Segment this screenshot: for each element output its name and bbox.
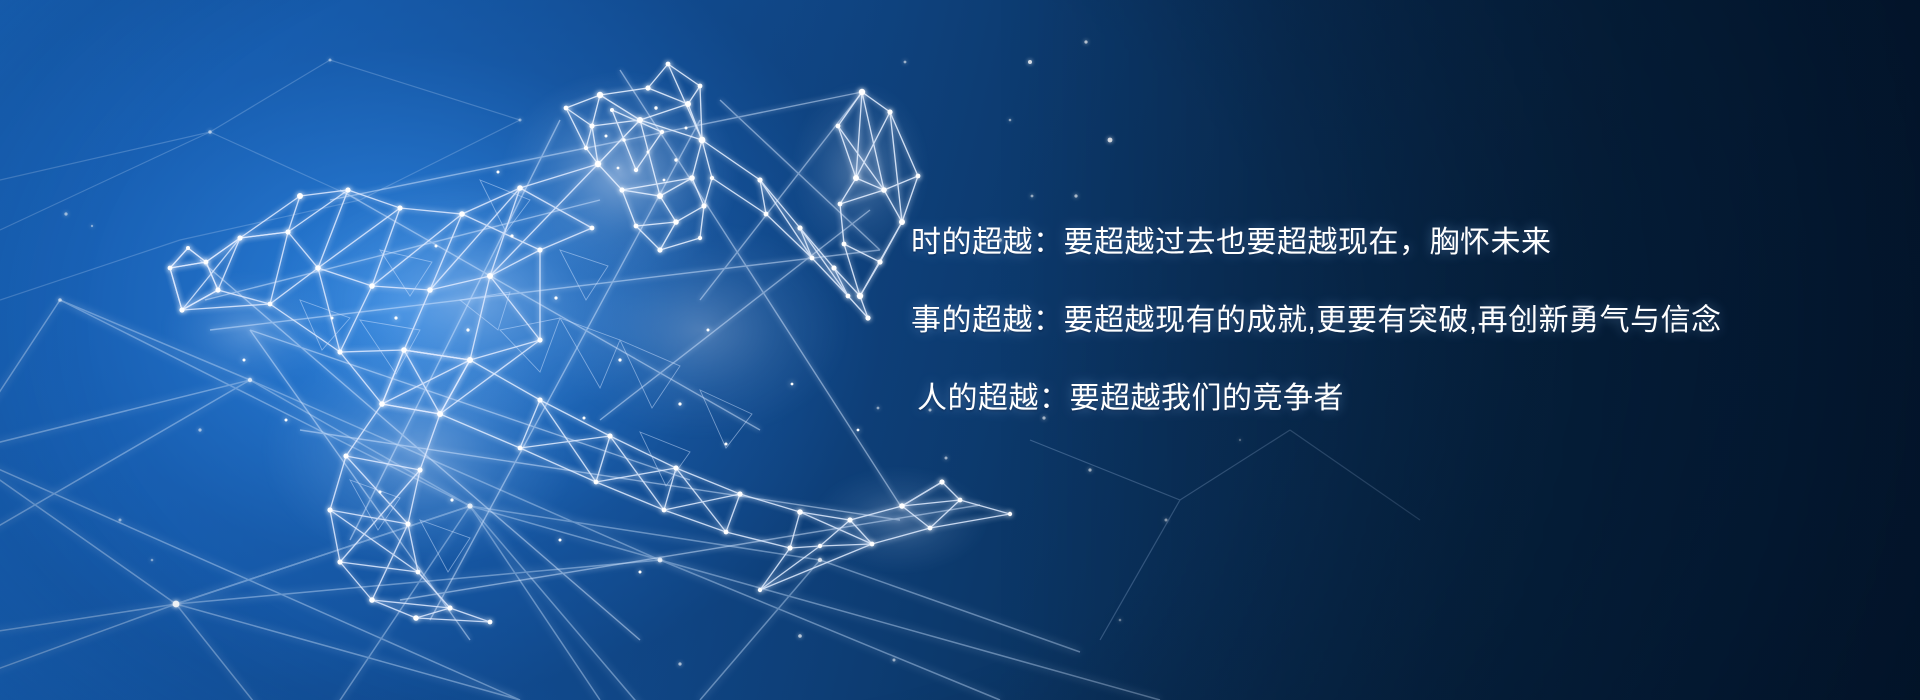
- hero-banner: 时的超越：要超越过去也要超越现在，胸怀未来 事的超越：要超越现有的成就,更要有突…: [0, 0, 1920, 700]
- slogan-line-time: 时的超越：要超越过去也要超越现在，胸怀未来: [911, 228, 1791, 258]
- slogan-line-people: 人的超越：要超越我们的竞争者: [917, 384, 1791, 414]
- slogan-text-block: 时的超越：要超越过去也要超越现在，胸怀未来 事的超越：要超越现有的成就,更要有突…: [911, 228, 1791, 414]
- slogan-line-matter: 事的超越：要超越现有的成就,更要有突破,再创新勇气与信念: [911, 306, 1791, 336]
